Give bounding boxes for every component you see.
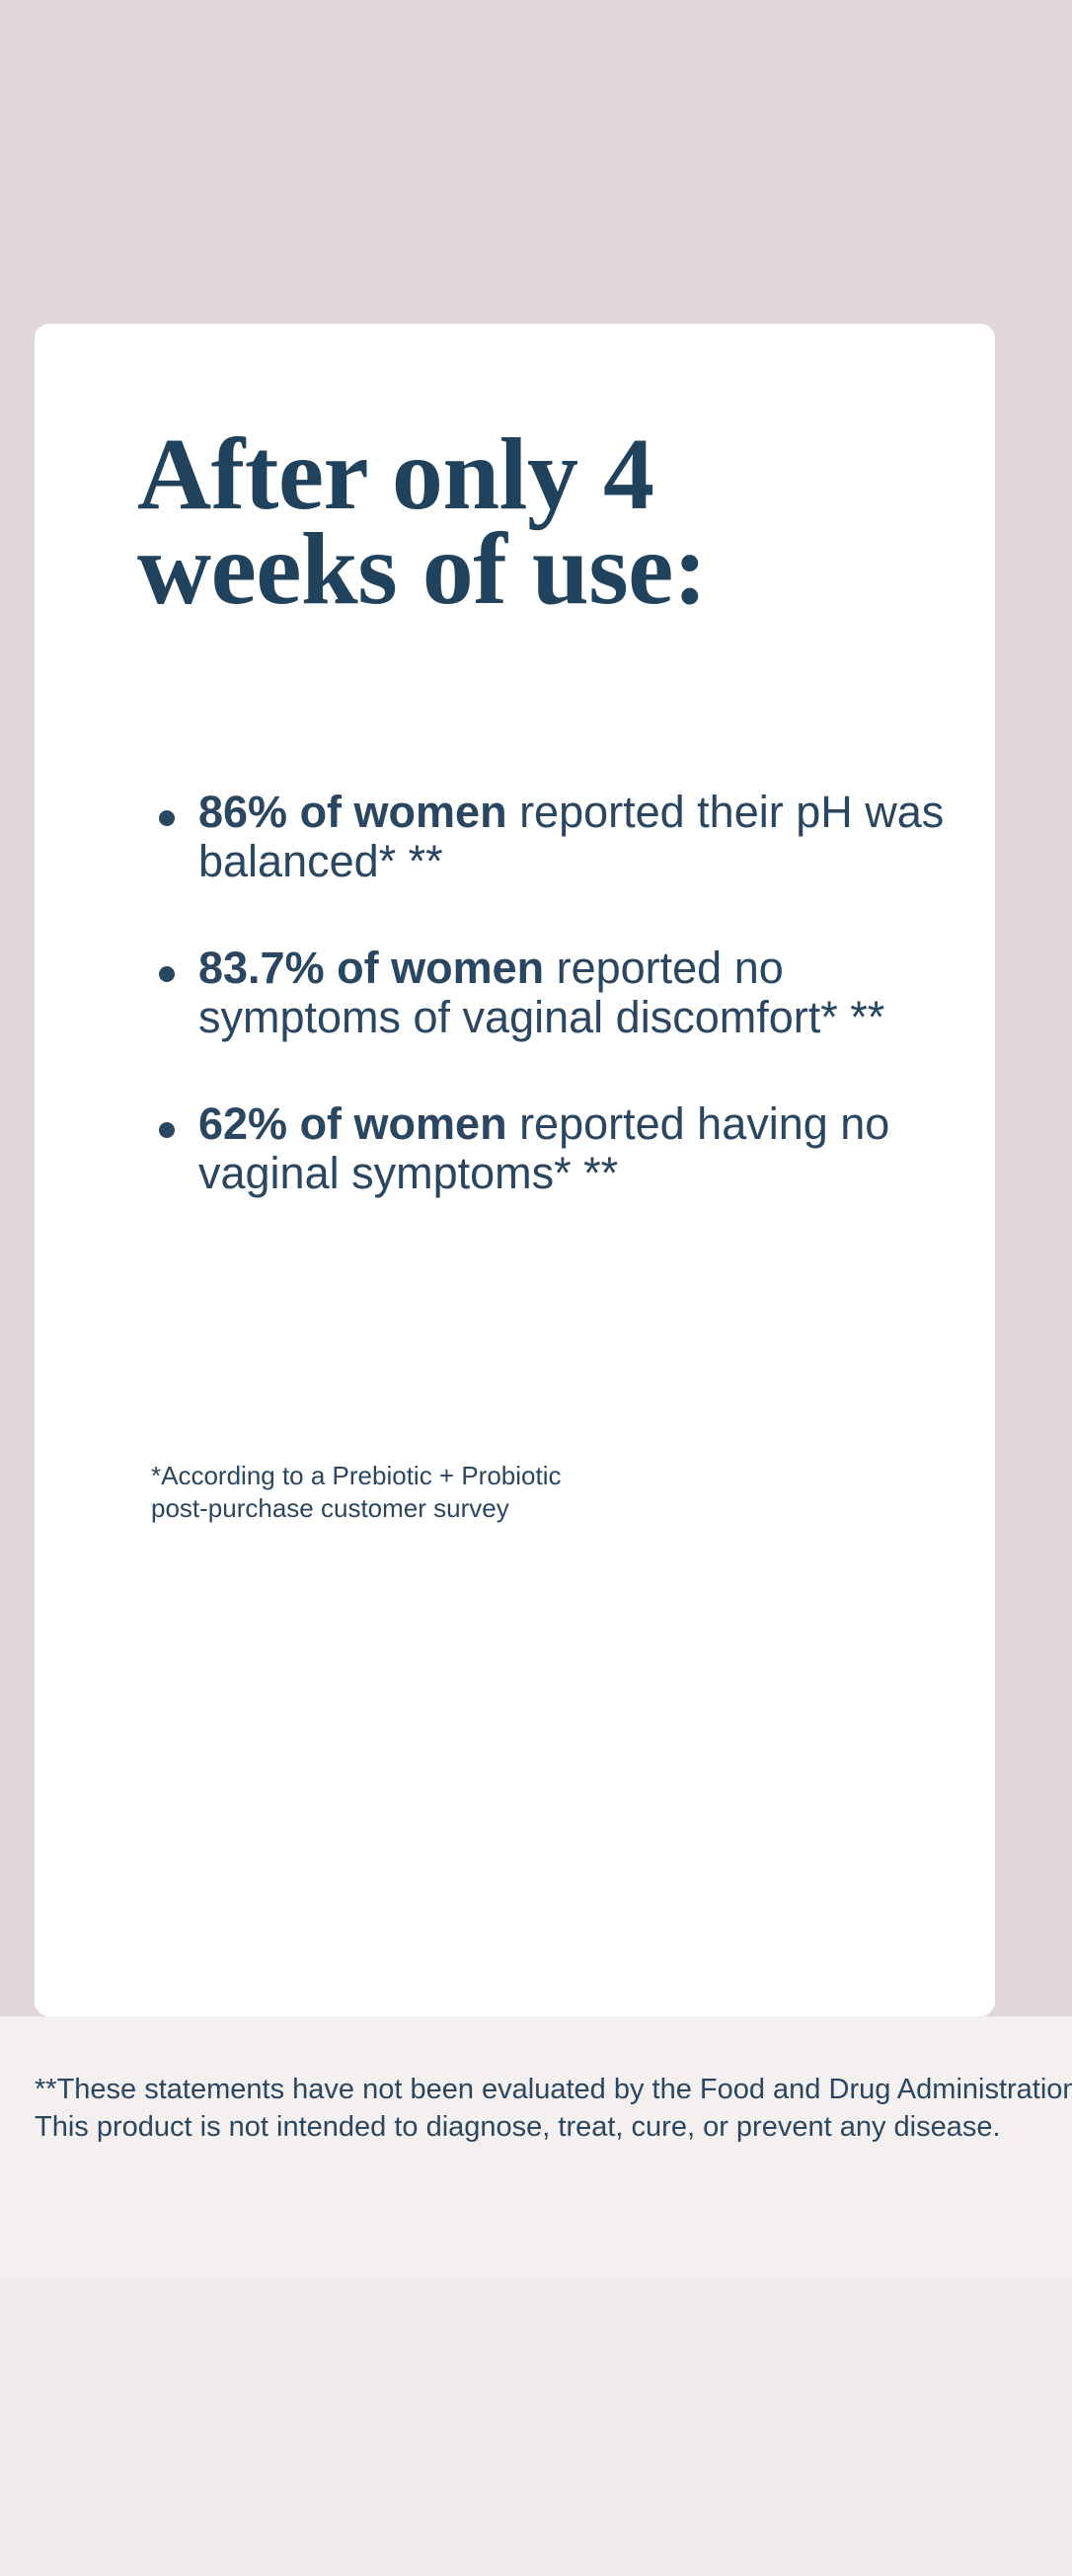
background-wash-below-card xyxy=(0,2016,1072,2277)
survey-footnote-line-2: post-purchase customer survey xyxy=(151,1492,862,1525)
fda-disclaimer-line-1: **These statements have not been evaluat… xyxy=(35,2072,1072,2109)
bullet-dot-icon xyxy=(159,966,175,982)
promo-card: After only 4 weeks of use: 86% of women … xyxy=(35,324,995,2016)
page-title-line-2: weeks of use: xyxy=(137,522,947,617)
list-item: 86% of women reported their pH was balan… xyxy=(137,788,957,887)
benefit-stat: 83.7% of women xyxy=(198,943,544,993)
fda-disclaimer-line-2: This product is not intended to diagnose… xyxy=(35,2109,1072,2147)
list-item: 83.7% of women reported no symptoms of v… xyxy=(137,944,957,1043)
bullet-dot-icon xyxy=(159,1122,175,1138)
page-title: After only 4 weeks of use: xyxy=(137,427,947,616)
benefits-list: 86% of women reported their pH was balan… xyxy=(137,788,957,1198)
background-band-lower xyxy=(0,2277,1072,2576)
background-band-top xyxy=(0,0,1072,190)
benefit-stat: 62% of women xyxy=(198,1099,507,1149)
bullet-dot-icon xyxy=(159,810,175,826)
page-title-line-1: After only 4 xyxy=(137,427,947,522)
benefit-stat: 86% of women xyxy=(198,787,507,837)
list-item: 62% of women reported having no vaginal … xyxy=(137,1099,957,1199)
survey-footnote: *According to a Prebiotic + Probiotic po… xyxy=(151,1460,862,1525)
fda-disclaimer: **These statements have not been evaluat… xyxy=(35,2072,1072,2146)
survey-footnote-line-1: *According to a Prebiotic + Probiotic xyxy=(151,1460,862,1492)
